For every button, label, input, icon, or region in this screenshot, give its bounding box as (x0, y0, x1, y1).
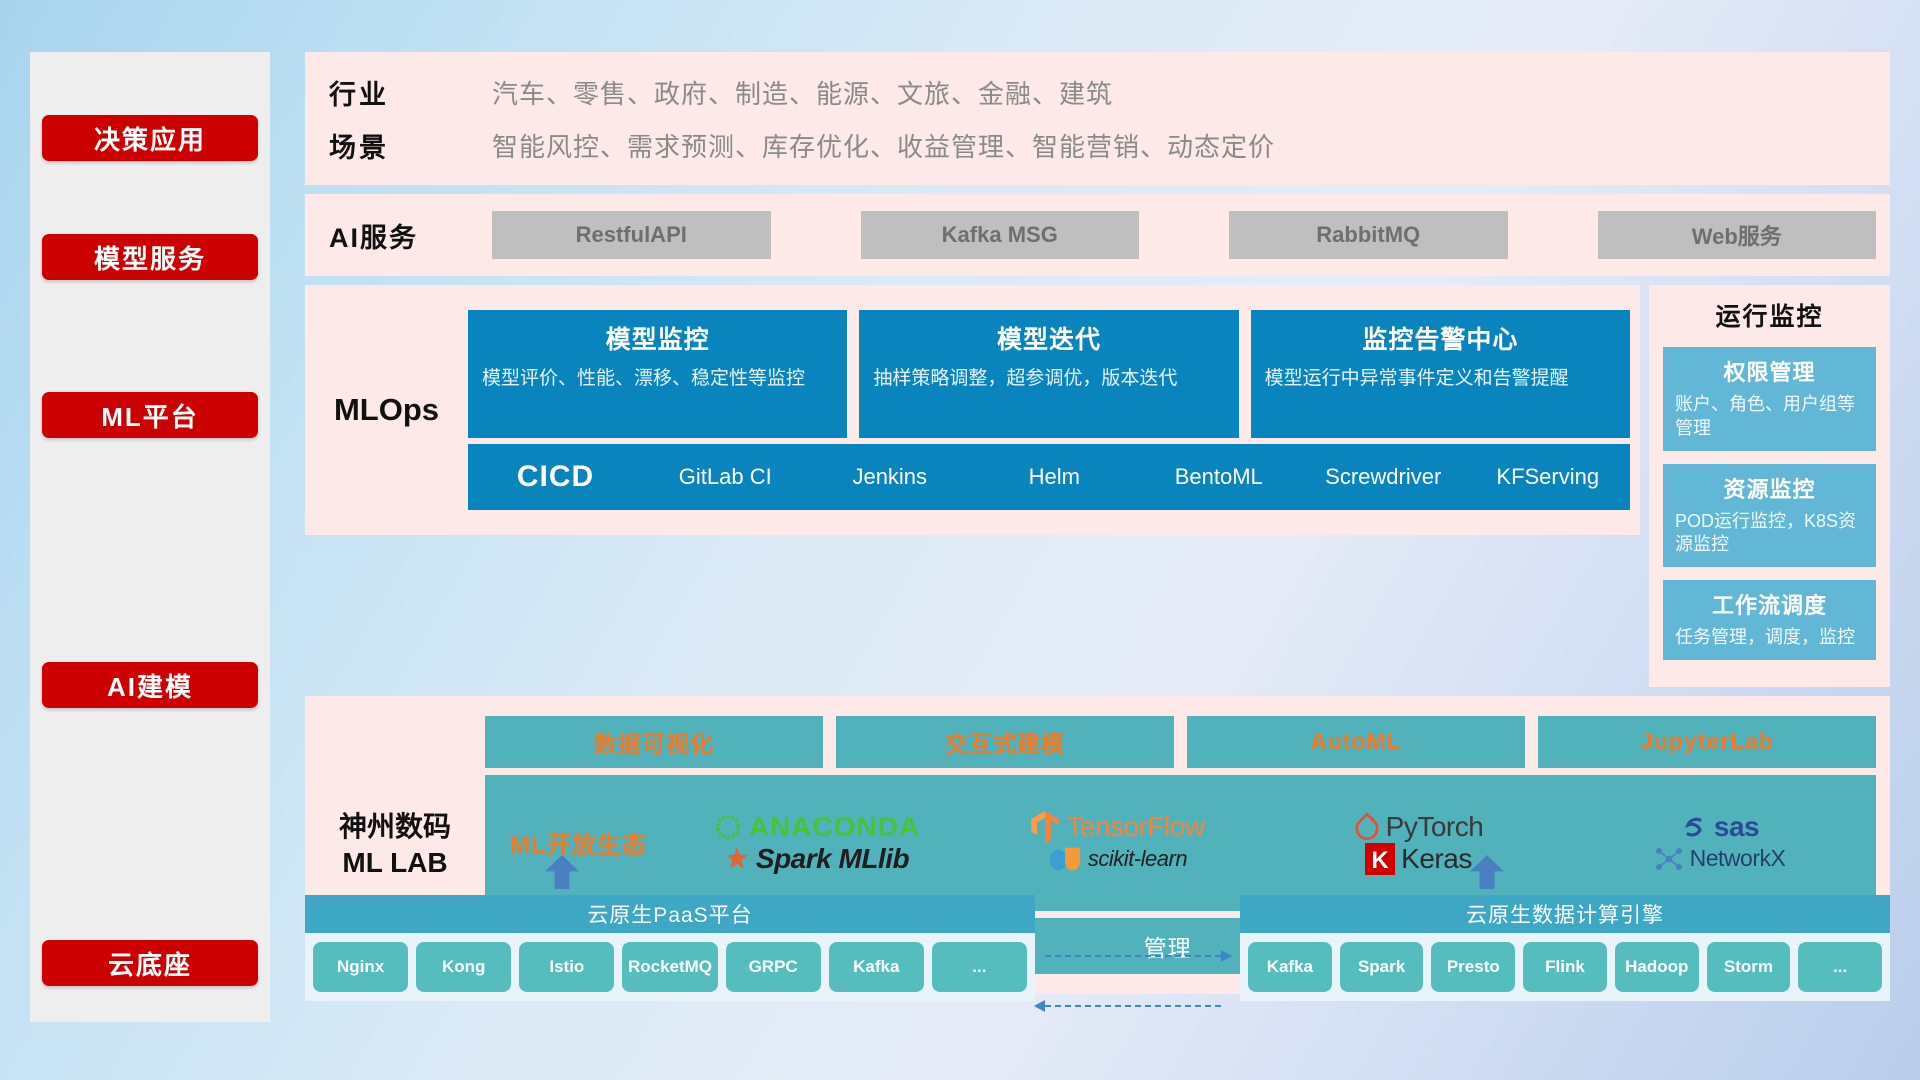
monitor-card-title: 工作流调度 (1675, 588, 1864, 620)
cloud-chip-kafka[interactable]: Kafka (829, 942, 924, 992)
scenario-row: 场景 智能风控、需求预测、库存优化、收益管理、智能营销、动态定价 (329, 126, 1890, 165)
connector-arrow-left-head (1034, 1000, 1045, 1012)
runtime-monitoring-title: 运行监控 (1663, 297, 1876, 333)
cloud-paas-block: 云原生PaaS平台 Nginx Kong Istio RocketMQ GRPC… (305, 895, 1035, 1001)
rail-item-ai-modeling[interactable]: AI建模 (42, 662, 258, 708)
mlops-card-model-iteration[interactable]: 模型迭代 抽样策略调整，超参调优，版本迭代 (859, 310, 1238, 438)
monitor-card-title: 资源监控 (1675, 472, 1864, 504)
ai-service-chip-rabbitmq[interactable]: RabbitMQ (1229, 211, 1508, 259)
industry-value: 汽车、零售、政府、制造、能源、文旅、金融、建筑 (492, 74, 1113, 111)
ml-lab-label-line1: 神州数码 (305, 809, 485, 845)
arrow-up-icon-data-engine (1470, 855, 1504, 889)
rail-item-model-service[interactable]: 模型服务 (42, 234, 258, 280)
industry-label: 行业 (329, 73, 492, 112)
tensorflow-logo: TensorFlow (1030, 811, 1204, 843)
monitor-card-workflow[interactable]: 工作流调度 任务管理，调度，监控 (1663, 580, 1876, 660)
cicd-item-kfserving[interactable]: KFServing (1466, 466, 1631, 488)
cloud-chip-istio[interactable]: Istio (519, 942, 614, 992)
monitor-card-desc: 任务管理，调度，监控 (1675, 626, 1864, 650)
arrow-up-icon-paas (545, 855, 579, 889)
industry-row: 行业 汽车、零售、政府、制造、能源、文旅、金融、建筑 (329, 73, 1890, 112)
stack-layer-rail: 决策应用 模型服务 ML平台 AI建模 云底座 (30, 52, 270, 1022)
cicd-bar: CICD GitLab CI Jenkins Helm BentoML Scre… (468, 444, 1630, 510)
cicd-item-bentoml[interactable]: BentoML (1137, 466, 1302, 488)
mlops-card-model-monitoring[interactable]: 模型监控 模型评价、性能、漂移、稳定性等监控 (468, 310, 847, 438)
mlops-card-desc: 模型运行中异常事件定义和告警提醒 (1265, 366, 1616, 391)
cloud-chip-nginx[interactable]: Nginx (313, 942, 408, 992)
cloud-base-zone: 云原生PaaS平台 Nginx Kong Istio RocketMQ GRPC… (305, 855, 1890, 1023)
cloud-chip-presto[interactable]: Presto (1431, 942, 1515, 992)
pytorch-logo: PyTorch (1354, 811, 1484, 843)
monitor-card-permission[interactable]: 权限管理 账户、角色、用户组等管理 (1663, 347, 1876, 451)
lab-tool-automl[interactable]: AutoML (1187, 716, 1525, 768)
monitor-card-title: 权限管理 (1675, 355, 1864, 387)
cloud-data-engine-title: 云原生数据计算引擎 (1240, 895, 1890, 933)
cicd-item-jenkins[interactable]: Jenkins (808, 466, 973, 488)
cloud-chip-more-de[interactable]: ... (1798, 942, 1882, 992)
mlops-label: MLOps (305, 392, 468, 428)
runtime-monitoring-column: 运行监控 权限管理 账户、角色、用户组等管理 资源监控 POD运行监控，K8S资… (1649, 285, 1890, 687)
mlops-card-desc: 抽样策略调整，超参调优，版本迭代 (873, 366, 1224, 391)
rail-item-cloud-base[interactable]: 云底座 (42, 940, 258, 986)
mlops-card-title: 模型迭代 (873, 320, 1224, 356)
monitor-card-resource[interactable]: 资源监控 POD运行监控，K8S资源监控 (1663, 464, 1876, 568)
scenario-label: 场景 (329, 126, 492, 165)
cloud-chip-storm[interactable]: Storm (1707, 942, 1791, 992)
sas-logo: sas (1680, 811, 1759, 843)
connector-arrow-left (1045, 1005, 1221, 1007)
ai-service-chip-kafka-msg[interactable]: Kafka MSG (861, 211, 1140, 259)
connector-arrow-right (1045, 955, 1221, 957)
ai-service-band: AI服务 RestfulAPI Kafka MSG RabbitMQ Web服务 (305, 194, 1890, 276)
cicd-item-screwdriver[interactable]: Screwdriver (1301, 466, 1466, 488)
cloud-chip-grpc[interactable]: GRPC (726, 942, 821, 992)
cicd-title: CICD (468, 460, 643, 494)
cloud-chip-more-paas[interactable]: ... (932, 942, 1027, 992)
lab-tool-interactive-modeling[interactable]: 交互式建模 (836, 716, 1174, 768)
lab-tool-data-visualization[interactable]: 数据可视化 (485, 716, 823, 768)
anaconda-logo: ANACONDA (713, 811, 920, 843)
ai-service-chip-web-service[interactable]: Web服务 (1598, 211, 1877, 259)
lab-tool-jupyterlab[interactable]: JupyterLab (1538, 716, 1876, 768)
scenario-value: 智能风控、需求预测、库存优化、收益管理、智能营销、动态定价 (492, 127, 1275, 164)
cloud-data-engine-block: 云原生数据计算引擎 Kafka Spark Presto Flink Hadoo… (1240, 895, 1890, 1001)
mlops-card-desc: 模型评价、性能、漂移、稳定性等监控 (482, 366, 833, 391)
cloud-chip-kong[interactable]: Kong (416, 942, 511, 992)
cicd-item-gitlab-ci[interactable]: GitLab CI (643, 466, 808, 488)
cloud-chip-spark[interactable]: Spark (1340, 942, 1424, 992)
mlops-band: MLOps 模型监控 模型评价、性能、漂移、稳定性等监控 模型迭代 抽样策略调整… (305, 285, 1640, 535)
rail-item-ml-platform[interactable]: ML平台 (42, 392, 258, 438)
tensorflow-logo-text: TensorFlow (1066, 811, 1204, 843)
cloud-chip-flink[interactable]: Flink (1523, 942, 1607, 992)
cicd-item-helm[interactable]: Helm (972, 466, 1137, 488)
ai-service-label: AI服务 (329, 216, 492, 255)
mlops-card-alert-center[interactable]: 监控告警中心 模型运行中异常事件定义和告警提醒 (1251, 310, 1630, 438)
rail-item-decision-app[interactable]: 决策应用 (42, 115, 258, 161)
mlops-card-title: 监控告警中心 (1265, 320, 1616, 356)
sas-logo-text: sas (1714, 811, 1759, 843)
cloud-paas-title: 云原生PaaS平台 (305, 895, 1035, 933)
pytorch-logo-text: PyTorch (1386, 811, 1484, 843)
cloud-chip-rocketmq[interactable]: RocketMQ (622, 942, 717, 992)
connector-arrow-right-head (1221, 950, 1232, 962)
ai-service-chip-restfulapi[interactable]: RestfulAPI (492, 211, 771, 259)
cloud-chip-hadoop[interactable]: Hadoop (1615, 942, 1699, 992)
monitor-card-desc: 账户、角色、用户组等管理 (1675, 393, 1864, 441)
mlops-card-title: 模型监控 (482, 320, 833, 356)
monitor-card-desc: POD运行监控，K8S资源监控 (1675, 510, 1864, 558)
cloud-chip-kafka-de[interactable]: Kafka (1248, 942, 1332, 992)
decision-application-band: 行业 汽车、零售、政府、制造、能源、文旅、金融、建筑 场景 智能风控、需求预测、… (305, 52, 1890, 185)
anaconda-logo-text: ANACONDA (749, 811, 920, 843)
